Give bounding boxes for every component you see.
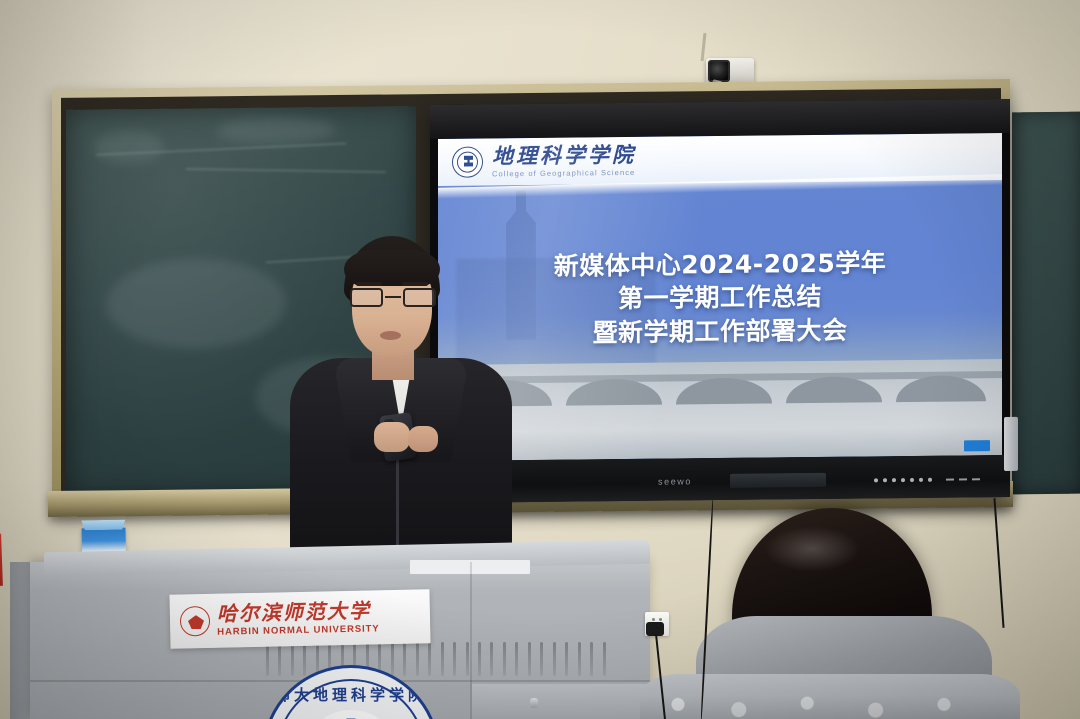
display-button[interactable] — [901, 478, 905, 482]
vent-slat — [416, 642, 419, 676]
vent-slat — [603, 642, 606, 676]
chalkboard-right-panel — [1012, 112, 1080, 495]
glasses-lens-left — [350, 288, 383, 307]
vent-slat — [403, 642, 406, 676]
vent-slat — [503, 642, 506, 676]
attendee-fur-trim — [640, 694, 1020, 719]
college-name-cn: 地理科学学院 — [492, 145, 636, 168]
bridge-arch — [676, 377, 772, 404]
classroom-scene: 地理科学学院 College of Geographical Science 新… — [0, 0, 1080, 719]
chalk-smudge — [94, 131, 164, 164]
presenter-mouth — [380, 331, 401, 340]
college-name-en: College of Geographical Science — [492, 169, 636, 178]
presenter-hair-fringe — [344, 250, 440, 286]
display-screen[interactable]: 地理科学学院 College of Geographical Science 新… — [438, 133, 1002, 461]
vent-slat — [466, 642, 469, 676]
vent-slat — [441, 642, 444, 676]
banner-name-en: HARBIN NORMAL UNIVERSITY — [217, 625, 380, 638]
display-button[interactable] — [883, 478, 887, 482]
attendee-hair-highlight — [764, 526, 860, 572]
podium-drawer[interactable] — [472, 684, 650, 719]
banner-text-block: 哈尔滨师范大学 HARBIN NORMAL UNIVERSITY — [217, 601, 380, 638]
display-port — [972, 478, 980, 480]
university-banner: 哈尔滨师范大学 HARBIN NORMAL UNIVERSITY — [169, 589, 430, 648]
vent-slat — [303, 642, 306, 676]
display-bottom-bezel: seewo — [430, 455, 1010, 503]
vent-slat — [278, 642, 281, 676]
display-logo-badge — [964, 440, 990, 451]
display-button[interactable] — [928, 478, 932, 482]
display-ir-sensor-bar — [730, 473, 826, 488]
vent-slat — [266, 642, 269, 676]
college-crest-icon — [452, 146, 483, 177]
display-button[interactable] — [892, 478, 896, 482]
college-name-block: 地理科学学院 College of Geographical Science — [492, 145, 636, 178]
presentation-slide: 地理科学学院 College of Geographical Science 新… — [438, 133, 1002, 461]
chalk-line — [186, 168, 386, 173]
display-button[interactable] — [919, 478, 923, 482]
bridge-arch — [896, 375, 986, 402]
presenter-eyebrow-right — [402, 282, 428, 286]
vent-slat — [590, 642, 593, 676]
presenter-hand-right — [408, 426, 438, 452]
vent-slat — [490, 642, 493, 676]
slide-title: 新媒体中心2024-2025学年 第一学期工作总结 暨新学期工作部署大会 — [438, 245, 1002, 351]
vent-slat — [291, 642, 294, 676]
glasses-lens-right — [403, 288, 436, 307]
slide-header-band: 地理科学学院 College of Geographical Science — [438, 133, 1002, 186]
slide-river-photo — [438, 359, 1002, 461]
podium-lock-icon[interactable] — [530, 698, 538, 708]
seated-attendee — [640, 498, 1020, 719]
chalk-smudge — [106, 258, 286, 350]
vent-slat — [528, 642, 531, 676]
display-button-row[interactable] — [874, 478, 932, 483]
display-button[interactable] — [910, 478, 914, 482]
banner-name-cn: 哈尔滨师范大学 — [217, 601, 380, 624]
vent-slat — [428, 642, 431, 676]
display-port-row — [946, 478, 980, 480]
vent-slat — [515, 642, 518, 676]
bridge-arch — [566, 379, 662, 406]
display-button[interactable] — [874, 478, 878, 482]
vent-slat — [540, 642, 543, 676]
vent-slat — [578, 642, 581, 676]
vent-slat — [565, 642, 568, 676]
student-presenter — [286, 236, 516, 566]
presenter-hand-left — [374, 422, 410, 452]
interactive-display[interactable]: 地理科学学院 College of Geographical Science 新… — [430, 99, 1010, 503]
vent-slat — [453, 642, 456, 676]
university-seal-icon — [180, 606, 211, 637]
vent-slat — [391, 642, 394, 676]
display-port — [946, 479, 954, 481]
glasses-bridge — [385, 296, 401, 298]
presenter-eyebrow-left — [356, 282, 382, 286]
camera-lens — [708, 60, 730, 82]
carton-gable-top — [81, 520, 125, 531]
display-side-button[interactable] — [1004, 417, 1018, 471]
camera-wire — [701, 33, 707, 61]
vent-slat — [478, 642, 481, 676]
bridge-arch — [786, 376, 882, 403]
eyeglasses-icon — [348, 288, 438, 308]
chalk-smudge — [216, 117, 336, 144]
display-port — [959, 478, 967, 480]
vent-slat — [553, 642, 556, 676]
slide-title-line-3: 暨新学期工作部署大会 — [438, 312, 1002, 351]
emblem-label: 师大地理科学学院 — [265, 684, 437, 705]
display-brand-label: seewo — [658, 476, 692, 486]
